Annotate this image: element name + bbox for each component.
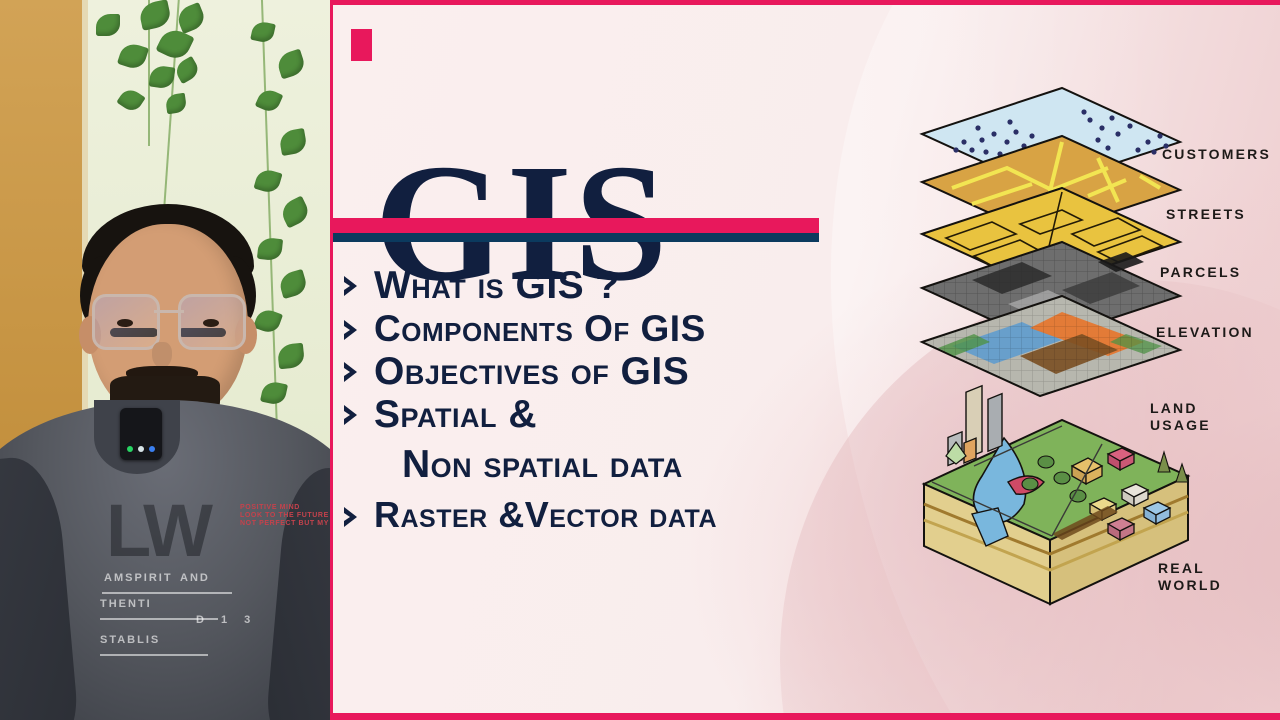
- slide-border-top: [330, 0, 1280, 5]
- chevron-right-icon: [340, 352, 368, 388]
- list-item-label: Raster &Vector data: [374, 497, 717, 534]
- lavalier-microphone: [120, 408, 162, 460]
- chevron-right-icon: [340, 395, 368, 431]
- accent-square: [351, 29, 372, 61]
- divider-rule-pink: [331, 218, 819, 233]
- eye-left: [117, 319, 133, 327]
- list-item[interactable]: Components Of GIS: [340, 310, 980, 348]
- layer-label-parcels: PARCELS: [1160, 264, 1241, 281]
- list-item-label: Spatial &: [374, 393, 537, 436]
- slide-border-left: [330, 0, 333, 720]
- layer-label-real-world: REAL WORLD: [1158, 560, 1222, 594]
- layer-label-land-usage: LAND USAGE: [1150, 400, 1211, 434]
- chevron-right-icon: [340, 310, 368, 346]
- glasses-bridge: [154, 310, 184, 313]
- shirt-line-3: STABLIS: [100, 634, 160, 646]
- list-item-label: Objectives of GIS: [374, 352, 689, 392]
- shirt-line-2: THENTI: [100, 598, 152, 610]
- chevron-right-icon: [340, 497, 368, 533]
- layer-label-streets: STREETS: [1166, 206, 1246, 223]
- list-item[interactable]: Objectives of GIS: [340, 352, 980, 392]
- list-item-label: Components Of GIS: [374, 310, 706, 348]
- shirt-line-1: AMSPIRIT: [104, 572, 173, 584]
- agenda-list: What is GIS ? Components Of GIS Objectiv…: [340, 266, 980, 538]
- eyeglasses: [92, 294, 246, 348]
- presenter-figure: LW POSITIVE MINDLOOK TO THE FUTURENOT PE…: [0, 200, 330, 720]
- chevron-right-icon: [340, 266, 368, 302]
- slide-border-bottom: [330, 713, 1280, 720]
- arm-right: [264, 464, 330, 720]
- list-item[interactable]: Raster &Vector data: [340, 497, 980, 534]
- layer-real-world: [924, 386, 1188, 604]
- list-item-label: What is GIS ?: [374, 266, 620, 306]
- lens-left: [92, 294, 160, 350]
- shirt-line-5: D 1 3: [196, 614, 257, 626]
- gis-layer-stack-illustration: CUSTOMERS STREETS PARCELS ELEVATION LAND…: [912, 84, 1280, 644]
- arm-left: [0, 454, 80, 720]
- torso-tshirt: LW POSITIVE MINDLOOK TO THE FUTURENOT PE…: [0, 400, 330, 720]
- list-item-label-continuation: Non spatial data: [374, 445, 683, 485]
- layer-label-elevation: ELEVATION: [1156, 324, 1254, 341]
- presenter-webcam-feed: LW POSITIVE MINDLOOK TO THE FUTURENOT PE…: [0, 0, 330, 720]
- shirt-graphic-large: LW: [106, 488, 209, 573]
- eye-right: [203, 319, 219, 327]
- lens-right: [178, 294, 246, 350]
- list-item[interactable]: Spatial & Non spatial data: [340, 395, 980, 485]
- layer-label-customers: CUSTOMERS: [1162, 146, 1271, 163]
- divider-rule-navy: [331, 233, 819, 242]
- video-slide-frame: LW POSITIVE MINDLOOK TO THE FUTURENOT PE…: [0, 0, 1280, 720]
- layer-land-usage: [922, 296, 1180, 396]
- nose: [152, 342, 172, 368]
- shirt-red-print: POSITIVE MINDLOOK TO THE FUTURENOT PERFE…: [240, 504, 329, 528]
- list-item[interactable]: What is GIS ?: [340, 266, 980, 306]
- shirt-line-4: AND: [180, 572, 210, 584]
